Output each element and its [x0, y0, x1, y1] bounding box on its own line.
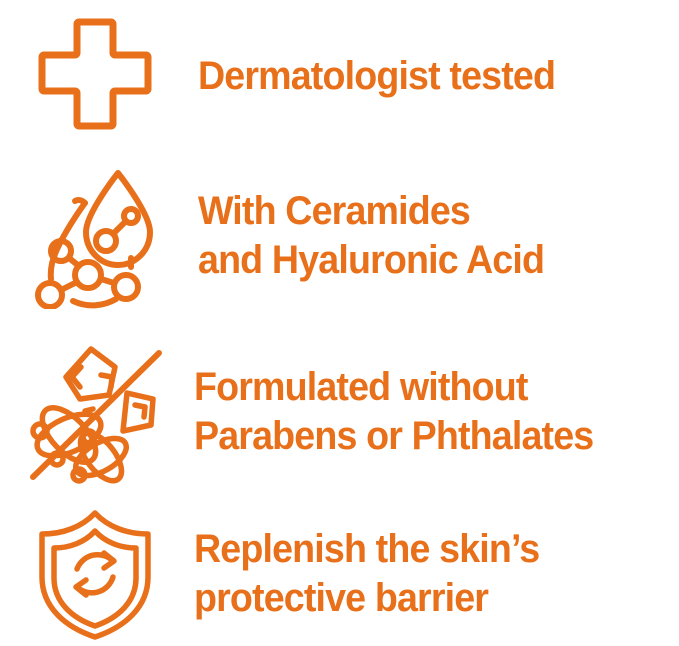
feature-text-line: Formulated without — [194, 363, 650, 412]
no-chemicals-crossed-out-icon — [23, 337, 167, 487]
feature-text-line: With Ceramides — [198, 187, 650, 236]
product-benefits-panel: Dermatologist tested — [0, 0, 679, 646]
feature-text-line: and Hyaluronic Acid — [198, 236, 650, 285]
feature-icon-cell — [0, 163, 190, 309]
feature-icon-cell — [0, 16, 190, 134]
feature-text-line: protective barrier — [194, 574, 650, 623]
droplet-molecule-icon — [30, 163, 160, 309]
shield-renewal-icon — [32, 507, 158, 641]
feature-text-cell: With Ceramides and Hyaluronic Acid — [190, 187, 679, 285]
feature-row: Formulated without Parabens or Phthalate… — [0, 322, 679, 502]
medical-cross-icon — [35, 16, 155, 134]
feature-icon-cell — [0, 337, 190, 487]
feature-text-cell: Formulated without Parabens or Phthalate… — [190, 363, 679, 461]
feature-icon-cell — [0, 507, 190, 641]
feature-row: Replenish the skin’s protective barrier — [0, 502, 679, 646]
feature-text-line: Replenish the skin’s — [194, 525, 650, 574]
feature-text-line: Parabens or Phthalates — [194, 412, 650, 461]
feature-text-cell: Replenish the skin’s protective barrier — [190, 525, 679, 623]
feature-text-line: Dermatologist tested — [198, 52, 650, 101]
feature-row: With Ceramides and Hyaluronic Acid — [0, 150, 679, 322]
feature-row: Dermatologist tested — [0, 0, 679, 150]
feature-text-cell: Dermatologist tested — [190, 50, 679, 101]
